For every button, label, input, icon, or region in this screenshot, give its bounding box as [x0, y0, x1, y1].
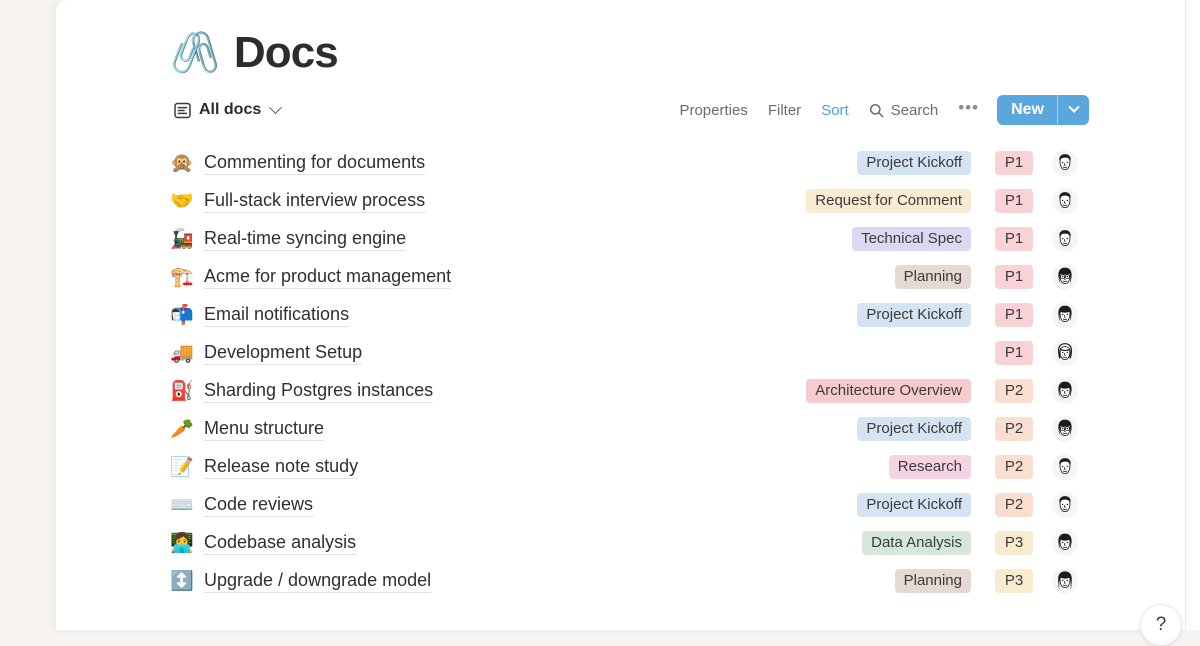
doc-row-main[interactable]: 🤝 Full-stack interview process: [170, 190, 425, 213]
speak-no-evil-monkey-icon: 🙊: [170, 154, 194, 173]
doc-row[interactable]: 📝 Release note study Research P2: [170, 448, 1089, 486]
tag-cell: Planning: [755, 265, 987, 289]
tag-cell: Technical Spec: [755, 227, 987, 251]
assignee-cell: [1041, 188, 1089, 214]
toolbar-actions: Properties Filter Sort Search ••• New: [669, 95, 1089, 125]
tag-cell: Architecture Overview: [755, 379, 987, 403]
chevron-down-icon: [1068, 102, 1079, 113]
doc-row-meta: Planning P3: [755, 568, 1089, 594]
right-rail-edge: [1185, 0, 1200, 630]
assignee-cell: [1041, 340, 1089, 366]
assignee-cell: [1041, 302, 1089, 328]
doc-title-link[interactable]: Release note study: [204, 456, 358, 479]
status-badge[interactable]: Project Kickoff: [857, 303, 971, 327]
properties-button[interactable]: Properties: [669, 97, 757, 124]
avatar[interactable]: [1052, 454, 1078, 480]
assignee-cell: [1041, 530, 1089, 556]
priority-cell: P1: [987, 341, 1041, 365]
priority-cell: P3: [987, 531, 1041, 555]
priority-cell: P2: [987, 379, 1041, 403]
priority-badge[interactable]: P1: [995, 303, 1033, 327]
avatar[interactable]: [1052, 378, 1078, 404]
assignee-cell: [1041, 264, 1089, 290]
sort-button[interactable]: Sort: [811, 97, 859, 124]
doc-list-icon: [174, 102, 191, 119]
doc-row[interactable]: ↕️ Upgrade / downgrade model Planning P3: [170, 562, 1089, 600]
assignee-cell: [1041, 150, 1089, 176]
doc-row-main[interactable]: 🏗️ Acme for product management: [170, 266, 451, 289]
doc-row[interactable]: 🏗️ Acme for product management Planning …: [170, 258, 1089, 296]
help-button[interactable]: ?: [1140, 604, 1182, 646]
docs-panel: 🖇️ Docs All docs: [56, 0, 1185, 630]
doc-row-main[interactable]: 🥕 Menu structure: [170, 418, 324, 441]
doc-row-main[interactable]: 👩‍💻 Codebase analysis: [170, 532, 356, 555]
doc-row-meta: Data Analysis P3: [755, 530, 1089, 556]
doc-title-link[interactable]: Development Setup: [204, 342, 362, 365]
priority-cell: P2: [987, 493, 1041, 517]
doc-title-link[interactable]: Sharding Postgres instances: [204, 380, 433, 403]
tag-cell: Project Kickoff: [755, 303, 987, 327]
doc-title-link[interactable]: Upgrade / downgrade model: [204, 570, 431, 593]
mailbox-icon: 📬: [170, 306, 194, 325]
priority-cell: P1: [987, 303, 1041, 327]
avatar[interactable]: [1052, 302, 1078, 328]
status-badge[interactable]: Architecture Overview: [806, 379, 971, 403]
assignee-cell: [1041, 454, 1089, 480]
avatar[interactable]: [1052, 150, 1078, 176]
priority-badge[interactable]: P1: [995, 151, 1033, 175]
priority-cell: P2: [987, 417, 1041, 441]
delivery-truck-icon: 🚚: [170, 344, 194, 363]
search-icon: [869, 103, 884, 118]
chevron-down-icon: [269, 101, 282, 114]
doc-row-main[interactable]: 🚚 Development Setup: [170, 342, 362, 365]
avatar[interactable]: [1052, 492, 1078, 518]
doc-row-main[interactable]: 🚂 Real-time syncing engine: [170, 228, 406, 251]
locomotive-icon: 🚂: [170, 230, 194, 249]
new-button[interactable]: New: [997, 95, 1057, 125]
memo-icon: 📝: [170, 458, 194, 477]
status-badge[interactable]: Request for Comment: [806, 189, 971, 213]
priority-cell: P2: [987, 455, 1041, 479]
priority-cell: P1: [987, 227, 1041, 251]
content-column: 🖇️ Docs All docs: [170, 0, 1089, 600]
doc-row[interactable]: 👩‍💻 Codebase analysis Data Analysis P3: [170, 524, 1089, 562]
priority-cell: P1: [987, 265, 1041, 289]
avatar[interactable]: [1052, 340, 1078, 366]
assignee-cell: [1041, 568, 1089, 594]
status-badge[interactable]: Project Kickoff: [857, 151, 971, 175]
avatar[interactable]: [1052, 226, 1078, 252]
priority-badge[interactable]: P3: [995, 531, 1033, 555]
avatar[interactable]: [1052, 188, 1078, 214]
doc-row[interactable]: 📬 Email notifications Project Kickoff P1: [170, 296, 1089, 334]
assignee-cell: [1041, 416, 1089, 442]
status-badge[interactable]: Project Kickoff: [857, 493, 971, 517]
priority-badge[interactable]: P2: [995, 379, 1033, 403]
up-down-arrow-icon: ↕️: [170, 572, 194, 591]
priority-cell: P1: [987, 151, 1041, 175]
doc-row-main[interactable]: ⌨️ Code reviews: [170, 494, 313, 517]
avatar[interactable]: [1052, 416, 1078, 442]
priority-badge[interactable]: P1: [995, 341, 1033, 365]
doc-title-link[interactable]: Menu structure: [204, 418, 324, 441]
status-badge[interactable]: Planning: [895, 569, 971, 593]
handshake-icon: 🤝: [170, 192, 194, 211]
construction-crane-icon: 🏗️: [170, 268, 194, 287]
tag-cell: Project Kickoff: [755, 417, 987, 441]
tag-cell: Data Analysis: [755, 531, 987, 555]
tag-cell: Project Kickoff: [755, 493, 987, 517]
page-header: 🖇️ Docs: [170, 0, 1089, 62]
assignee-cell: [1041, 226, 1089, 252]
keyboard-icon: ⌨️: [170, 496, 194, 515]
doc-title-link[interactable]: Full-stack interview process: [204, 190, 425, 213]
tag-cell: Request for Comment: [755, 189, 987, 213]
priority-badge[interactable]: P2: [995, 493, 1033, 517]
doc-row-meta: P1: [755, 340, 1089, 366]
priority-badge[interactable]: P2: [995, 417, 1033, 441]
doc-title-link[interactable]: Codebase analysis: [204, 532, 356, 555]
doc-row[interactable]: 🤝 Full-stack interview process Request f…: [170, 182, 1089, 220]
doc-row[interactable]: 🚚 Development Setup P1: [170, 334, 1089, 372]
fuel-pump-icon: ⛽: [170, 382, 194, 401]
view-selector-label: All docs: [199, 101, 261, 119]
assignee-cell: [1041, 378, 1089, 404]
doc-row[interactable]: ⌨️ Code reviews Project Kickoff P2: [170, 486, 1089, 524]
app-shell: 🖇️ Docs All docs: [0, 0, 1200, 630]
priority-badge[interactable]: P1: [995, 227, 1033, 251]
priority-badge[interactable]: P1: [995, 265, 1033, 289]
doc-row-meta: Project Kickoff P1: [755, 150, 1089, 176]
tag-cell: Project Kickoff: [755, 151, 987, 175]
doc-row-main[interactable]: 🙊 Commenting for documents: [170, 152, 425, 175]
page-title: Docs: [234, 31, 338, 75]
status-badge[interactable]: Technical Spec: [852, 227, 971, 251]
filter-button[interactable]: Filter: [758, 97, 811, 124]
doc-title-link[interactable]: Acme for product management: [204, 266, 451, 289]
assignee-cell: [1041, 492, 1089, 518]
avatar[interactable]: [1052, 264, 1078, 290]
doc-row-meta: Project Kickoff P1: [755, 302, 1089, 328]
doc-row-main[interactable]: ⛽ Sharding Postgres instances: [170, 380, 433, 403]
doc-title-link[interactable]: Real-time syncing engine: [204, 228, 406, 251]
doc-row-main[interactable]: 📝 Release note study: [170, 456, 358, 479]
priority-badge[interactable]: P1: [995, 189, 1033, 213]
status-badge[interactable]: Planning: [895, 265, 971, 289]
doc-row[interactable]: 🙊 Commenting for documents Project Kicko…: [170, 144, 1089, 182]
doc-row-main[interactable]: 📬 Email notifications: [170, 304, 349, 327]
avatar[interactable]: [1052, 568, 1078, 594]
doc-title-link[interactable]: Commenting for documents: [204, 152, 425, 175]
doc-title-link[interactable]: Code reviews: [204, 494, 313, 517]
doc-row-meta: Planning P1: [755, 264, 1089, 290]
doc-row-meta: Project Kickoff P2: [755, 492, 1089, 518]
search-button[interactable]: Search: [859, 97, 949, 124]
doc-row-meta: Research P2: [755, 454, 1089, 480]
new-dropdown-button[interactable]: [1057, 95, 1089, 125]
priority-cell: P1: [987, 189, 1041, 213]
more-options-button[interactable]: •••: [948, 97, 989, 124]
avatar[interactable]: [1052, 530, 1078, 556]
doc-row-main[interactable]: ↕️ Upgrade / downgrade model: [170, 570, 431, 593]
doc-row-meta: Project Kickoff P2: [755, 416, 1089, 442]
status-badge[interactable]: Data Analysis: [862, 531, 971, 555]
priority-cell: P3: [987, 569, 1041, 593]
priority-badge[interactable]: P3: [995, 569, 1033, 593]
doc-row[interactable]: 🚂 Real-time syncing engine Technical Spe…: [170, 220, 1089, 258]
doc-row-meta: Request for Comment P1: [755, 188, 1089, 214]
new-button-group: New: [997, 95, 1089, 125]
doc-row-meta: Architecture Overview P2: [755, 378, 1089, 404]
woman-technologist-icon: 👩‍💻: [170, 534, 194, 553]
priority-badge[interactable]: P2: [995, 455, 1033, 479]
tag-cell: Planning: [755, 569, 987, 593]
doc-row-meta: Technical Spec P1: [755, 226, 1089, 252]
tag-cell: Research: [755, 455, 987, 479]
toolbar: All docs Properties Filter Sort Search: [170, 88, 1089, 132]
paperclip-icon: 🖇️: [170, 33, 220, 73]
doc-title-link[interactable]: Email notifications: [204, 304, 349, 327]
status-badge[interactable]: Research: [889, 455, 971, 479]
carrot-icon: 🥕: [170, 420, 194, 439]
doc-row[interactable]: 🥕 Menu structure Project Kickoff P2: [170, 410, 1089, 448]
doc-row[interactable]: ⛽ Sharding Postgres instances Architectu…: [170, 372, 1089, 410]
search-label: Search: [891, 103, 939, 118]
view-selector-all-docs[interactable]: All docs: [170, 98, 284, 122]
doc-list: 🙊 Commenting for documents Project Kicko…: [170, 144, 1089, 600]
status-badge[interactable]: Project Kickoff: [857, 417, 971, 441]
